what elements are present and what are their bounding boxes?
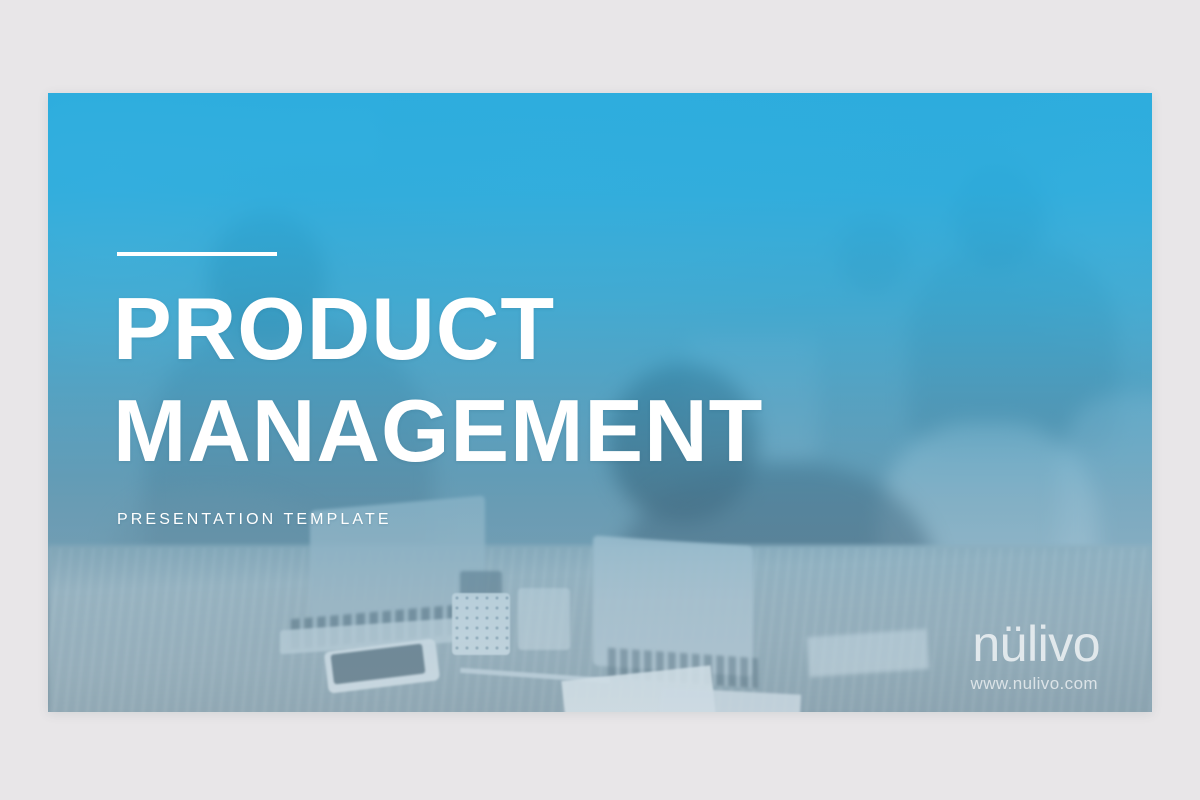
brand-website-url: www.nulivo.com (971, 674, 1098, 694)
page-title: PRODUCT MANAGEMENT (113, 278, 763, 482)
presentation-slide: PRODUCT MANAGEMENT PRESENTATION TEMPLATE… (48, 93, 1152, 712)
accent-rule (117, 252, 277, 256)
slide-subtitle: PRESENTATION TEMPLATE (117, 511, 392, 529)
brand-watermark: nülivo www.nulivo.com (971, 619, 1100, 694)
brand-logo-text: nülivo (971, 619, 1100, 669)
slide-stage: PRODUCT MANAGEMENT PRESENTATION TEMPLATE… (0, 0, 1200, 800)
slide-content: PRODUCT MANAGEMENT PRESENTATION TEMPLATE (117, 93, 1017, 712)
